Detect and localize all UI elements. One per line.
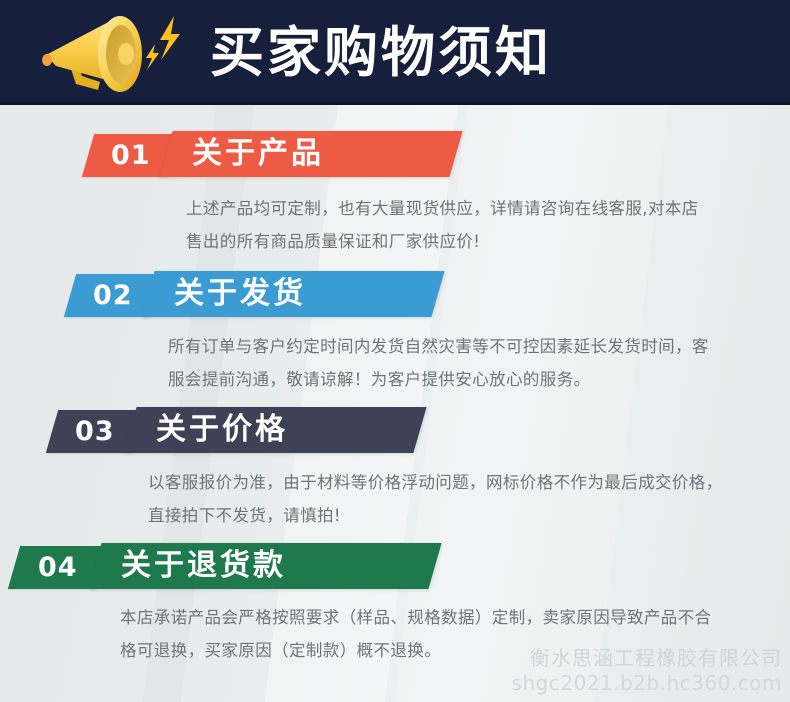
section-number-label: 04 xyxy=(38,546,78,589)
section-number-label: 01 xyxy=(111,134,151,177)
section-title-banner-02: 关于发货 xyxy=(141,271,444,317)
section-banner-01: 01关于产品 xyxy=(0,131,790,177)
megaphone-icon xyxy=(28,8,203,100)
section-body-text-02: 所有订单与客户约定时间内发货自然灾害等不可控因素延长发货时间，客 服会提前沟通，… xyxy=(168,330,778,396)
watermark-url: shgc2021.b2b.hc360.com xyxy=(512,671,782,696)
section-title-banner-04: 关于退货款 xyxy=(88,543,441,589)
section-title-label: 关于退货款 xyxy=(121,543,286,589)
section-body-text-03: 以客服报价为准，由于材料等价格浮动问题，网标价格不作为最后成交价格， 直接拍下不… xyxy=(148,466,780,532)
section-title-label: 关于价格 xyxy=(156,407,288,453)
section-title-banner-03: 关于价格 xyxy=(123,407,426,453)
section-title-label: 关于产品 xyxy=(192,131,324,177)
section-body-text-04: 本店承诺产品会严格按照要求（样品、规格数据）定制，卖家原因导致产品不合 格可退换… xyxy=(120,601,775,667)
section-number-label: 02 xyxy=(93,274,133,317)
section-banner-03: 03关于价格 xyxy=(0,407,790,453)
section-body-text-01: 上述产品均可定制，也有大量现货供应，详情请咨询在线客服,对本店 售出的所有商品质… xyxy=(186,192,776,258)
section-title-label: 关于发货 xyxy=(174,271,306,317)
page-title: 买家购物须知 xyxy=(210,12,730,94)
section-banner-02: 02关于发货 xyxy=(0,271,790,317)
section-title-banner-01: 关于产品 xyxy=(159,131,462,177)
notice-body: 01关于产品上述产品均可定制，也有大量现货供应，详情请咨询在线客服,对本店 售出… xyxy=(0,105,790,702)
section-number-label: 03 xyxy=(75,410,115,453)
page-header: 买家购物须知 xyxy=(0,0,790,105)
buyer-notice-page: 买家购物须知 01关于产品上述产品均可定制，也有大量现货供应，详情请咨询在线客服… xyxy=(0,0,790,702)
section-banner-04: 04关于退货款 xyxy=(0,543,790,589)
